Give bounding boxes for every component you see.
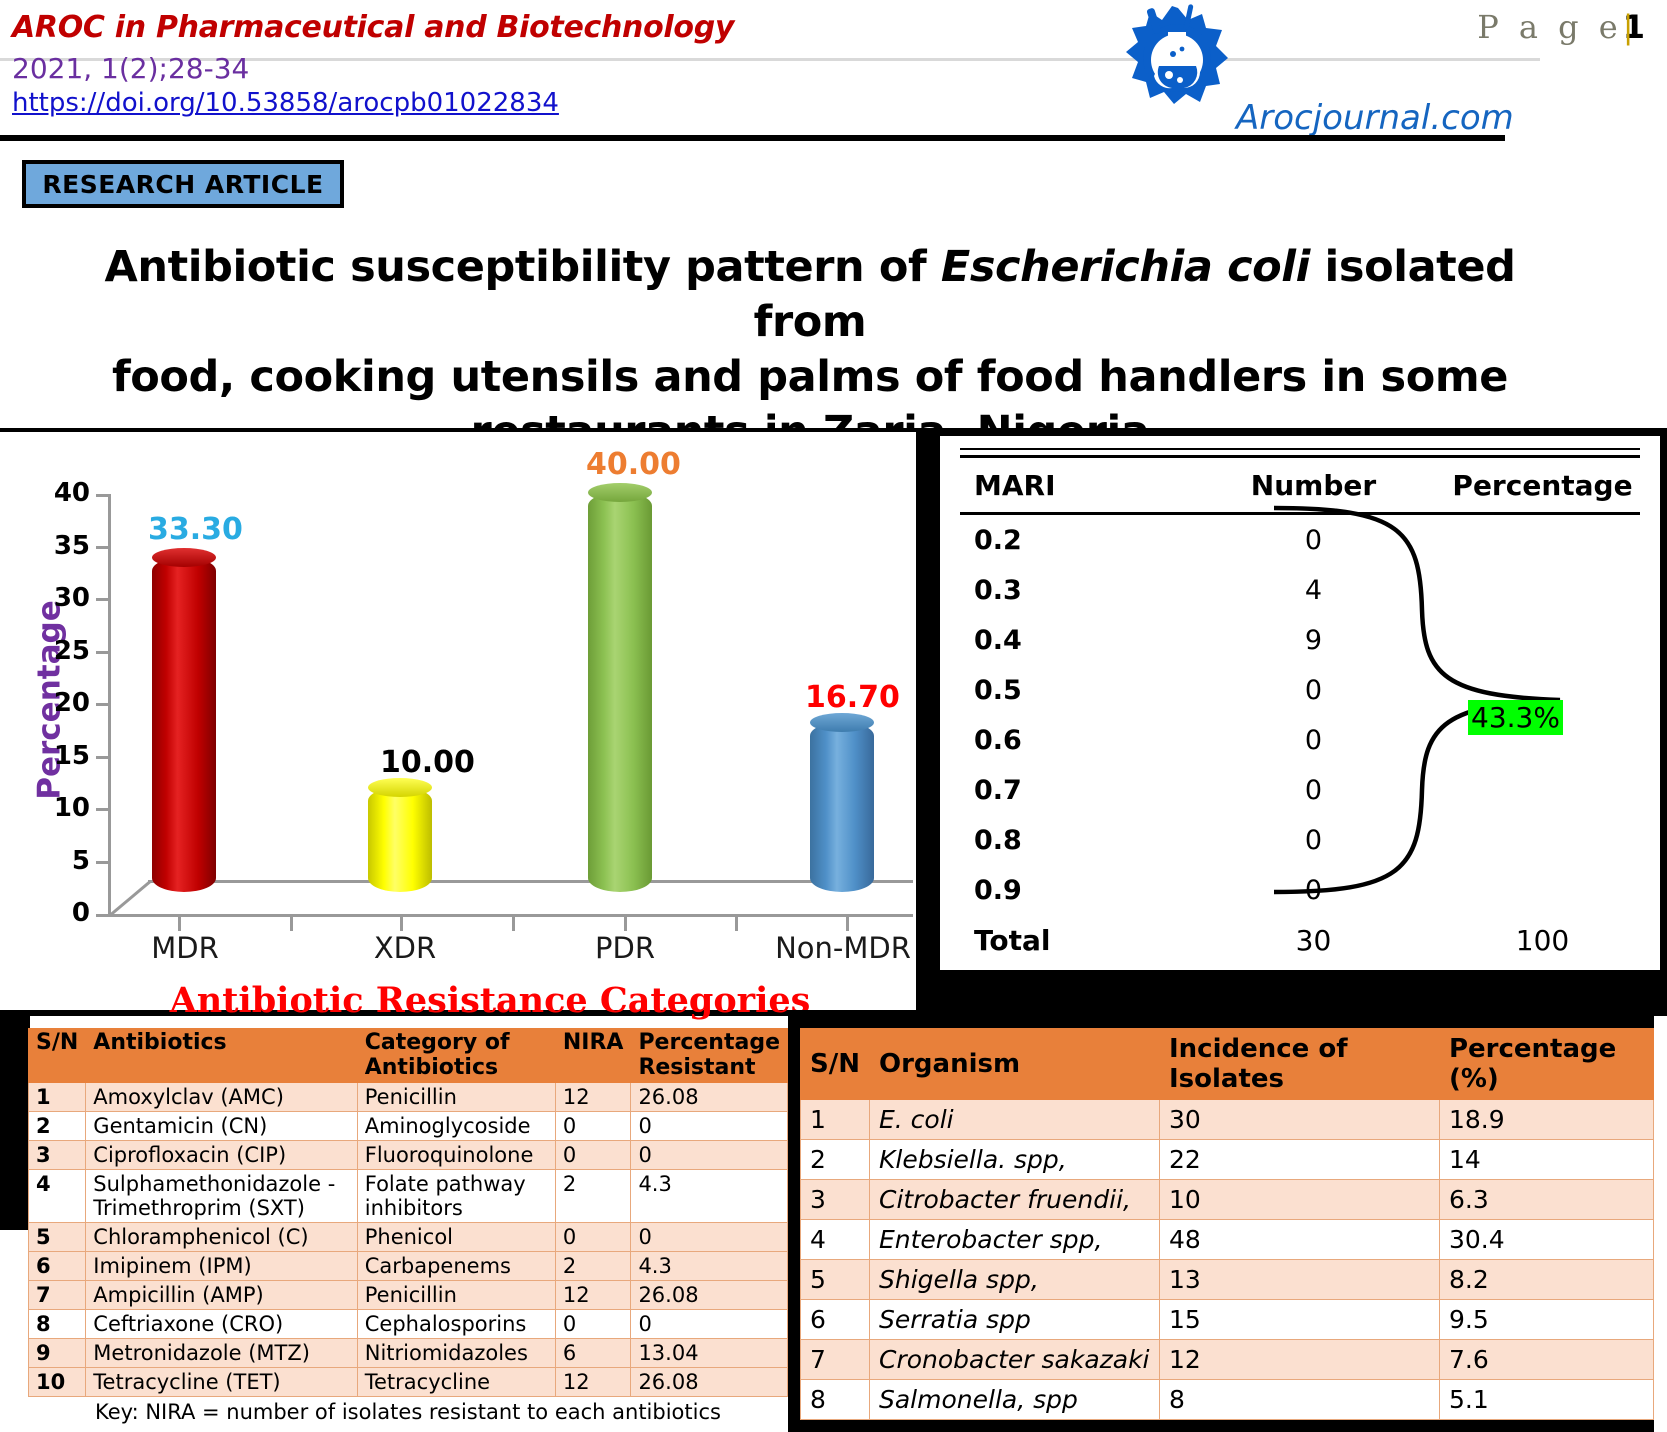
col-header-percentage: Percentage (%) <box>1439 1029 1653 1100</box>
col-header-pct-line2: Resistant <box>638 1055 755 1080</box>
cell-antibiotic: Tetracycline (TET) <box>86 1368 357 1397</box>
col-header-organism: Organism <box>869 1029 1159 1100</box>
cell-pct: 26.08 <box>631 1368 788 1397</box>
cell-antibiotic: Chloramphenicol (C) <box>86 1223 357 1252</box>
cell-pct: 0 <box>631 1112 788 1141</box>
cell-organism: Cronobacter sakazaki <box>869 1340 1159 1380</box>
cell-nira: 12 <box>555 1368 631 1397</box>
mari-curly-brace <box>1270 500 1620 900</box>
cell-sn: 10 <box>29 1368 86 1397</box>
cell-sn: 7 <box>29 1281 86 1310</box>
col-header-pct-line1: Percentage <box>638 1030 780 1055</box>
cell-nira: 0 <box>555 1223 631 1252</box>
col-header-incidence: Incidence of Isolates <box>1159 1029 1439 1100</box>
cell-antibiotic: Ampicillin (AMP) <box>86 1281 357 1310</box>
cell-category: Penicillin <box>357 1083 555 1112</box>
cell-organism: Shigella spp, <box>869 1260 1159 1300</box>
cell-pct: 30.4 <box>1439 1220 1653 1260</box>
title-line2: food, cooking utensils and palms of food… <box>112 352 1508 402</box>
page-label: P a g e <box>1477 8 1623 46</box>
chart-x-axis-title: Antibiotic Resistance Categories <box>140 980 840 1021</box>
chart-floor-front-edge <box>108 914 913 917</box>
mari-value: 0.2 <box>956 525 1186 556</box>
cell-pct: 18.9 <box>1439 1100 1653 1140</box>
col-header-sn: S/N <box>29 1029 86 1083</box>
cell-antibiotic: Ciprofloxacin (CIP) <box>86 1141 357 1170</box>
mari-total-label: Total <box>956 924 1186 957</box>
cell-organism: Serratia spp <box>869 1300 1159 1340</box>
cell-antibiotic: Amoxylclav (AMC) <box>86 1083 357 1112</box>
cell-sn: 6 <box>29 1252 86 1281</box>
journal-name: AROC in Pharmaceutical and Biotechnology <box>12 10 734 45</box>
cell-antibiotic: Sulphamethonidazole - Trimethroprim (SXT… <box>86 1170 357 1223</box>
cell-nira: 2 <box>555 1252 631 1281</box>
bar-pdr <box>588 492 652 892</box>
cell-incidence: 12 <box>1159 1340 1439 1380</box>
cell-sn: 2 <box>801 1140 870 1180</box>
resistance-bar-chart: Percentage 40 35 30 25 20 15 10 5 0 33.3… <box>0 432 916 1010</box>
mari-table-panel: MARI Number Percentage 0.2 0 0.3 4 0.4 9 <box>940 436 1660 970</box>
cell-incidence: 30 <box>1159 1100 1439 1140</box>
cell-sn: 5 <box>801 1260 870 1300</box>
cell-pct: 0 <box>631 1310 788 1339</box>
cell-sn: 9 <box>29 1339 86 1368</box>
table-row: 8 Salmonella, spp 8 5.1 <box>801 1380 1654 1420</box>
mari-value: 0.4 <box>956 625 1186 656</box>
mari-value: 0.6 <box>956 725 1186 756</box>
title-species-name: Escherichia coli <box>941 242 1310 292</box>
bar-xdr <box>368 787 432 892</box>
col-header-nira: NIRA <box>555 1029 631 1083</box>
cell-sn: 1 <box>801 1100 870 1140</box>
cell-sn: 2 <box>29 1112 86 1141</box>
organism-table: S/N Organism Incidence of Isolates Perce… <box>800 1028 1654 1420</box>
research-article-badge: RESEARCH ARTICLE <box>22 160 344 208</box>
bar-cap-pdr <box>588 483 652 502</box>
bar-cap-non-mdr <box>810 713 874 732</box>
table-row: 8 Ceftriaxone (CRO) Cephalosporins 0 0 <box>29 1310 788 1339</box>
table-header-row: S/N Organism Incidence of Isolates Perce… <box>801 1029 1654 1100</box>
cell-nira: 0 <box>555 1310 631 1339</box>
cell-antibiotic: Ceftriaxone (CRO) <box>86 1310 357 1339</box>
cell-organism: Citrobacter fruendii, <box>869 1180 1159 1220</box>
cell-sn: 8 <box>29 1310 86 1339</box>
cell-sn: 5 <box>29 1223 86 1252</box>
cell-pct: 7.6 <box>1439 1340 1653 1380</box>
bar-value-pdr: 40.00 <box>586 447 681 482</box>
y-axis-tickmark <box>96 914 108 917</box>
mari-total-percentage: 100 <box>1441 924 1644 957</box>
title-line1-pre: Antibiotic susceptibility pattern of <box>104 242 940 292</box>
cell-pct: 4.3 <box>631 1170 788 1223</box>
cell-antibiotic: Metronidazole (MTZ) <box>86 1339 357 1368</box>
mari-annotation-percentage: 43.3% <box>1468 700 1563 735</box>
cell-sn: 8 <box>801 1380 870 1420</box>
cell-organism: Enterobacter spp, <box>869 1220 1159 1260</box>
cell-nira: 12 <box>555 1083 631 1112</box>
x-axis-tickmark <box>290 917 293 931</box>
mari-total-row: Total 30 100 <box>956 915 1644 965</box>
antibiotics-table: S/N Antibiotics Category of Antibiotics … <box>28 1028 788 1424</box>
cell-pct: 0 <box>631 1141 788 1170</box>
cell-organism: Klebsiella. spp, <box>869 1140 1159 1180</box>
x-axis-tickmark <box>624 917 627 931</box>
cell-category: Folate pathway inhibitors <box>357 1170 555 1223</box>
cell-category: Fluoroquinolone <box>357 1141 555 1170</box>
cell-antibiotic: Imipinem (IPM) <box>86 1252 357 1281</box>
x-category-mdr: MDR <box>100 932 270 964</box>
flask-gear-logo <box>1110 2 1250 132</box>
cell-nira: 6 <box>555 1339 631 1368</box>
cell-pct: 13.04 <box>631 1339 788 1368</box>
table-row: 7 Cronobacter sakazaki 12 7.6 <box>801 1340 1654 1380</box>
bar-cap-xdr <box>368 778 432 797</box>
col-header-antibiotics: Antibiotics <box>86 1029 357 1083</box>
header-black-rule <box>0 135 1505 141</box>
bar-value-xdr: 10.00 <box>380 745 475 780</box>
table-row: 1 E. coli 30 18.9 <box>801 1100 1654 1140</box>
cell-incidence: 8 <box>1159 1380 1439 1420</box>
cell-pct: 0 <box>631 1223 788 1252</box>
x-axis-tickmark <box>512 917 515 931</box>
cell-sn: 6 <box>801 1300 870 1340</box>
cell-category: Penicillin <box>357 1281 555 1310</box>
table-row: 5 Chloramphenicol (C) Phenicol 0 0 <box>29 1223 788 1252</box>
cell-sn: 3 <box>801 1180 870 1220</box>
page-header: AROC in Pharmaceutical and Biotechnology… <box>0 0 1667 140</box>
journal-website: Arocjournal.com <box>1236 98 1514 138</box>
bar-mdr <box>152 557 216 892</box>
table-row: 3 Ciprofloxacin (CIP) Fluoroquinolone 0 … <box>29 1141 788 1170</box>
x-axis-tickmark <box>735 917 738 931</box>
center-black-divider <box>788 1010 800 1432</box>
cell-category: Phenicol <box>357 1223 555 1252</box>
page-indicator: P a g e|1 <box>1477 8 1645 46</box>
cell-sn: 4 <box>801 1220 870 1260</box>
x-category-pdr: PDR <box>540 932 710 964</box>
table-row: 2 Klebsiella. spp, 22 14 <box>801 1140 1654 1180</box>
cell-sn: 7 <box>801 1340 870 1380</box>
journal-issue: 2021, 1(2);28-34 <box>12 52 249 85</box>
mari-value: 0.9 <box>956 875 1186 906</box>
cell-incidence: 15 <box>1159 1300 1439 1340</box>
cell-incidence: 22 <box>1159 1140 1439 1180</box>
cell-pct: 26.08 <box>631 1083 788 1112</box>
cell-pct: 4.3 <box>631 1252 788 1281</box>
cell-organism: Salmonella, spp <box>869 1380 1159 1420</box>
bar-value-mdr: 33.30 <box>148 512 243 547</box>
x-axis-tickmark <box>846 917 849 931</box>
table-row: 1 Amoxylclav (AMC) Penicillin 12 26.08 <box>29 1083 788 1112</box>
cell-sn: 3 <box>29 1141 86 1170</box>
cell-pct: 8.2 <box>1439 1260 1653 1300</box>
doi-link[interactable]: https://doi.org/10.53858/arocpb01022834 <box>12 88 559 118</box>
table-row: 4 Enterobacter spp, 48 30.4 <box>801 1220 1654 1260</box>
mari-value: 0.3 <box>956 575 1186 606</box>
cell-category: Aminoglycoside <box>357 1112 555 1141</box>
table-header-row: S/N Antibiotics Category of Antibiotics … <box>29 1029 788 1083</box>
mari-header-percentage: Percentage <box>1441 469 1644 502</box>
cell-pct: 5.1 <box>1439 1380 1653 1420</box>
cell-pct: 26.08 <box>631 1281 788 1310</box>
cell-nira: 0 <box>555 1141 631 1170</box>
col-header-percentage-resistant: Percentage Resistant <box>631 1029 788 1083</box>
x-category-xdr: XDR <box>320 932 490 964</box>
table-row: 6 Imipinem (IPM) Carbapenems 2 4.3 <box>29 1252 788 1281</box>
bar-value-non-mdr: 16.70 <box>805 680 900 715</box>
mari-value: 0.5 <box>956 675 1186 706</box>
table-row: 2 Gentamicin (CN) Aminoglycoside 0 0 <box>29 1112 788 1141</box>
cell-category: Nitriomidazoles <box>357 1339 555 1368</box>
mari-total-number: 30 <box>1186 924 1441 957</box>
cell-nira: 12 <box>555 1281 631 1310</box>
x-axis-tickmark <box>400 917 403 931</box>
cell-sn: 4 <box>29 1170 86 1223</box>
mari-value: 0.7 <box>956 775 1186 806</box>
cell-antibiotic: Gentamicin (CN) <box>86 1112 357 1141</box>
cell-nira: 0 <box>555 1112 631 1141</box>
cell-pct: 14 <box>1439 1140 1653 1180</box>
cell-organism: E. coli <box>869 1100 1159 1140</box>
table-key-note: Key: NIRA = number of isolates resistant… <box>28 1397 788 1424</box>
x-axis-tickmark <box>178 917 181 931</box>
cell-category: Cephalosporins <box>357 1310 555 1339</box>
col-header-sn: S/N <box>801 1029 870 1100</box>
cell-incidence: 10 <box>1159 1180 1439 1220</box>
table-row: 7 Ampicillin (AMP) Penicillin 12 26.08 <box>29 1281 788 1310</box>
mari-header-mari: MARI <box>956 469 1186 502</box>
cell-nira: 2 <box>555 1170 631 1223</box>
mari-header-number: Number <box>1186 469 1441 502</box>
table-row: 3 Citrobacter fruendii, 10 6.3 <box>801 1180 1654 1220</box>
cell-category: Carbapenems <box>357 1252 555 1281</box>
x-category-non-mdr: Non-MDR <box>758 932 928 964</box>
table-row: 5 Shigella spp, 13 8.2 <box>801 1260 1654 1300</box>
bar-cap-mdr <box>152 548 216 567</box>
left-black-strip <box>0 1010 30 1230</box>
table-row: 10 Tetracycline (TET) Tetracycline 12 26… <box>29 1368 788 1397</box>
table-row: 6 Serratia spp 15 9.5 <box>801 1300 1654 1340</box>
bar-non-mdr <box>810 722 874 892</box>
cell-pct: 6.3 <box>1439 1180 1653 1220</box>
table-row: 4 Sulphamethonidazole - Trimethroprim (S… <box>29 1170 788 1223</box>
cell-sn: 1 <box>29 1083 86 1112</box>
cell-pct: 9.5 <box>1439 1300 1653 1340</box>
cell-category: Tetracycline <box>357 1368 555 1397</box>
table-row: 9 Metronidazole (MTZ) Nitriomidazoles 6 … <box>29 1339 788 1368</box>
mari-value: 0.8 <box>956 825 1186 856</box>
page-separator: | <box>1623 8 1667 46</box>
cell-incidence: 48 <box>1159 1220 1439 1260</box>
cell-incidence: 13 <box>1159 1260 1439 1300</box>
col-header-category: Category of Antibiotics <box>357 1029 555 1083</box>
